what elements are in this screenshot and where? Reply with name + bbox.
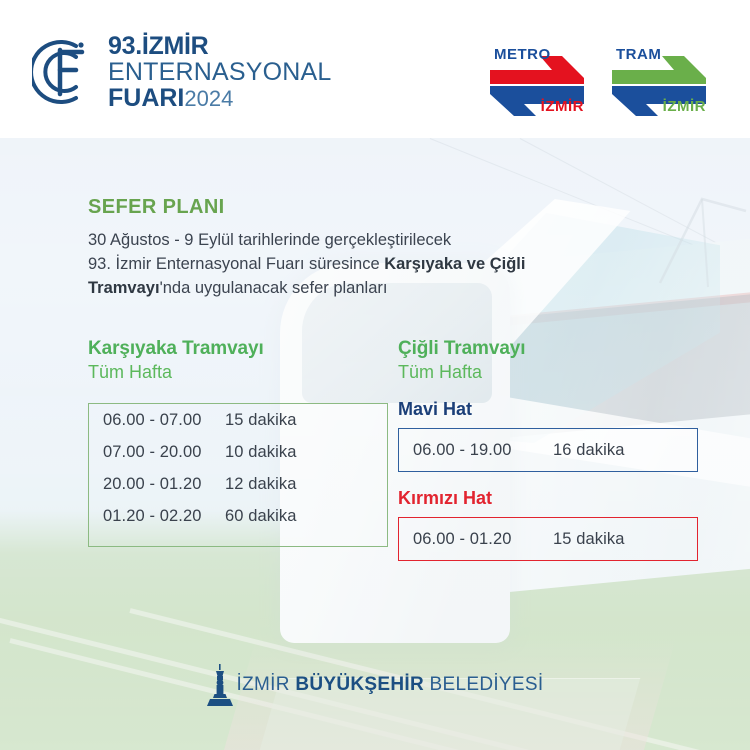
intro-line-2-bold: Karşıyaka ve Çiğli <box>384 255 525 273</box>
row-frequency: 15 dakika <box>553 530 625 549</box>
row-time: 06.00 - 01.20 <box>413 530 553 549</box>
kirmizi-hat-table: 06.00 - 01.20 15 dakika <box>398 517 698 561</box>
intro-line-2-pre: 93. İzmir Enternasyonal Fuarı süresince <box>88 255 384 273</box>
muni-rest: BELEDİYESİ <box>424 674 543 695</box>
row-time: 06.00 - 07.00 <box>103 411 225 430</box>
cigli-line-sub: Tüm Hafta <box>398 362 698 383</box>
table-row: 01.20 - 02.20 60 dakika <box>89 500 387 532</box>
municipality-logo: İZMİR BÜYÜKŞEHİR BELEDİYESİ <box>0 664 750 706</box>
metro-izmir-label: İZMİR <box>541 98 584 115</box>
table-row: 20.00 - 01.20 12 dakika <box>89 468 387 500</box>
intro-line-3-post: 'nda uygulanacak sefer planları <box>160 279 388 297</box>
table-row: 06.00 - 19.00 16 dakika <box>399 429 697 471</box>
row-frequency: 10 dakika <box>225 443 297 462</box>
intro-line-1: 30 Ağustos - 9 Eylül tarihlerinde gerçek… <box>88 231 451 249</box>
fair-title-line1: 93.İZMİR <box>108 34 332 59</box>
table-bottom-spacer <box>89 532 387 546</box>
muni-city: İZMİR <box>237 674 296 695</box>
kirmizi-hat-heading: Kırmızı Hat <box>398 488 698 509</box>
muni-bold: BÜYÜKŞEHİR <box>295 674 424 695</box>
poster-root: 93.İZMİR ENTERNASYONAL FUARI2024 METRO İ… <box>0 0 750 750</box>
cigli-line-name: Çiğli Tramvayı <box>398 338 698 360</box>
karsiyaka-schedule-table: 06.00 - 07.00 15 dakika 07.00 - 20.00 10… <box>88 403 388 547</box>
karsiyaka-column: Karşıyaka Tramvayı Tüm Hafta 06.00 - 07.… <box>88 338 388 547</box>
cigli-column: Çiğli Tramvayı Tüm Hafta Mavi Hat 06.00 … <box>398 338 698 561</box>
izmir-clock-tower-icon <box>207 664 233 706</box>
fair-title-fuari: FUARI <box>108 84 184 112</box>
fair-title-line3: FUARI2024 <box>108 86 332 111</box>
municipality-wordmark: İZMİR BÜYÜKŞEHİR BELEDİYESİ <box>237 674 544 696</box>
transit-logos: METRO İZMİR TRAM İZMİR <box>488 44 710 116</box>
metro-izmir-logo: METRO İZMİR <box>488 44 588 116</box>
mavi-hat-heading: Mavi Hat <box>398 399 698 420</box>
table-row: 06.00 - 01.20 15 dakika <box>399 518 697 560</box>
tram-izmir-logo: TRAM İZMİR <box>610 44 710 116</box>
row-time: 20.00 - 01.20 <box>103 475 225 494</box>
main-content: SEFER PLANI 30 Ağustos - 9 Eylül tarihle… <box>0 138 750 750</box>
row-frequency: 12 dakika <box>225 475 297 494</box>
fair-title-year: 2024 <box>184 86 233 111</box>
row-time: 07.00 - 20.00 <box>103 443 225 462</box>
mavi-hat-table: 06.00 - 19.00 16 dakika <box>398 428 698 472</box>
tram-izmir-label: İZMİR <box>663 98 706 115</box>
page-title: SEFER PLANI <box>88 196 225 219</box>
fair-title-line2: ENTERNASYONAL <box>108 60 332 85</box>
fair-logo-wordmark: 93.İZMİR ENTERNASYONAL FUARI2024 <box>108 32 332 111</box>
row-frequency: 60 dakika <box>225 507 297 526</box>
table-row: 06.00 - 07.00 15 dakika <box>89 404 387 436</box>
karsiyaka-line-name: Karşıyaka Tramvayı <box>88 338 388 360</box>
page-header: 93.İZMİR ENTERNASYONAL FUARI2024 METRO İ… <box>0 0 750 138</box>
karsiyaka-line-sub: Tüm Hafta <box>88 362 388 383</box>
izmir-fair-circular-mark-icon <box>32 36 98 108</box>
row-time: 06.00 - 19.00 <box>413 441 553 460</box>
row-frequency: 16 dakika <box>553 441 625 460</box>
fair-logo: 93.İZMİR ENTERNASYONAL FUARI2024 <box>32 32 332 111</box>
row-time: 01.20 - 02.20 <box>103 507 225 526</box>
intro-line-3-bold: Tramvayı <box>88 279 160 297</box>
tram-label: TRAM <box>616 46 661 63</box>
row-frequency: 15 dakika <box>225 411 297 430</box>
metro-label: METRO <box>494 46 551 63</box>
table-row: 07.00 - 20.00 10 dakika <box>89 436 387 468</box>
intro-paragraph: 30 Ağustos - 9 Eylül tarihlerinde gerçek… <box>88 228 608 300</box>
